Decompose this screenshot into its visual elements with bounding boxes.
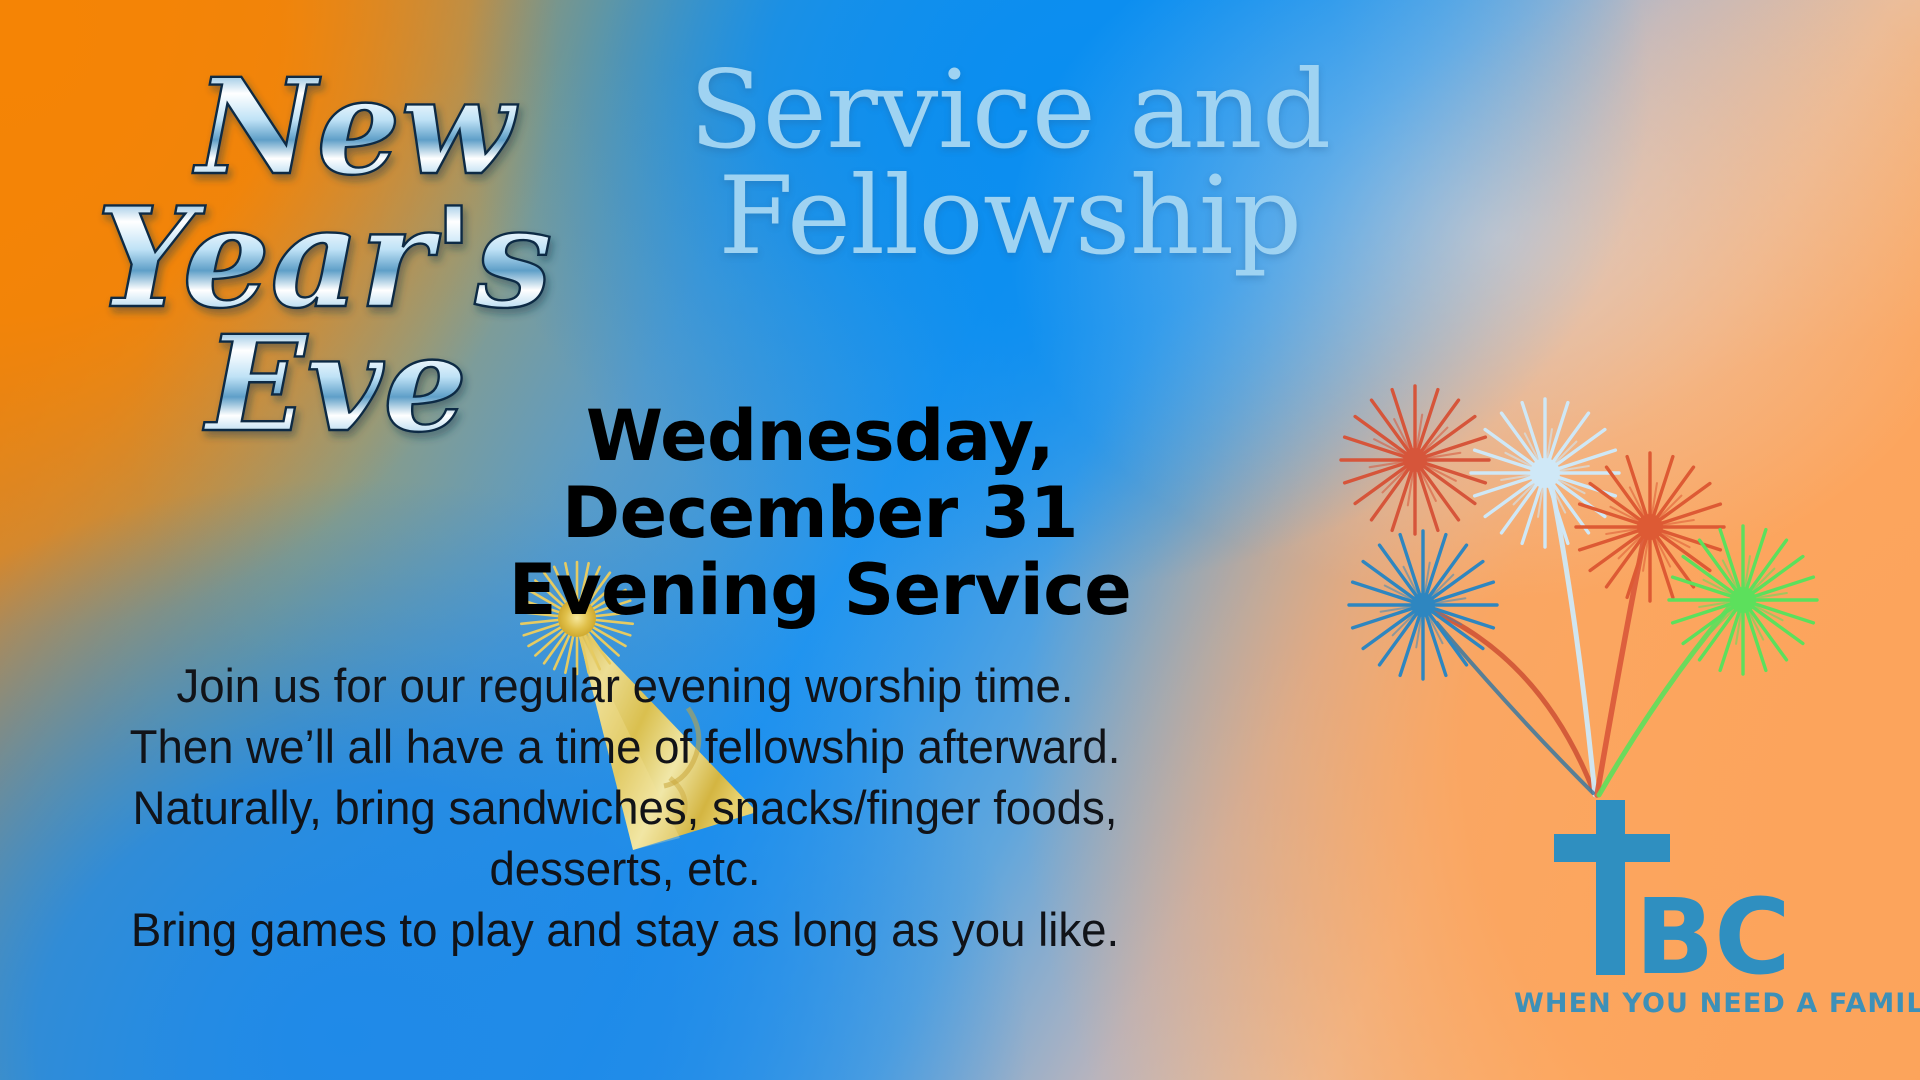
logo-monogram: BC [1635, 876, 1791, 998]
new-years-eve-script-title: New Year's Eve [78, 38, 598, 458]
service-heading-line-2: Fellowship [640, 164, 1380, 270]
event-flyer: New Year's Eve Service and Fellowship [0, 0, 1920, 1080]
logo-tagline: WHEN YOU NEED A FAMILY [1514, 988, 1920, 1019]
body-line: Join us for our regular evening worship … [101, 655, 1149, 716]
headline-subtitle: Evening Service [380, 552, 1260, 629]
event-headline: Wednesday, December 31 Evening Service [380, 398, 1260, 629]
firework-burst-blue [1349, 531, 1497, 679]
service-fellowship-heading: Service and Fellowship [640, 58, 1380, 270]
body-line: desserts, etc. [101, 838, 1149, 899]
fireworks-illustration [1345, 355, 1865, 795]
body-line: Bring games to play and stay as long as … [101, 899, 1149, 960]
firework-burst-red-right [1576, 453, 1724, 601]
body-line: Then we’ll all have a time of fellowship… [101, 716, 1149, 777]
firework-burst-red-upper [1341, 386, 1489, 534]
headline-date: Wednesday, December 31 [562, 395, 1078, 554]
event-description: Join us for our regular evening worship … [101, 655, 1149, 960]
body-line: Naturally, bring sandwiches, snacks/fing… [101, 777, 1149, 838]
tbc-church-logo: BC WHEN YOU NEED A FAMILY [1500, 790, 1870, 1025]
firework-burst-white [1471, 399, 1619, 547]
